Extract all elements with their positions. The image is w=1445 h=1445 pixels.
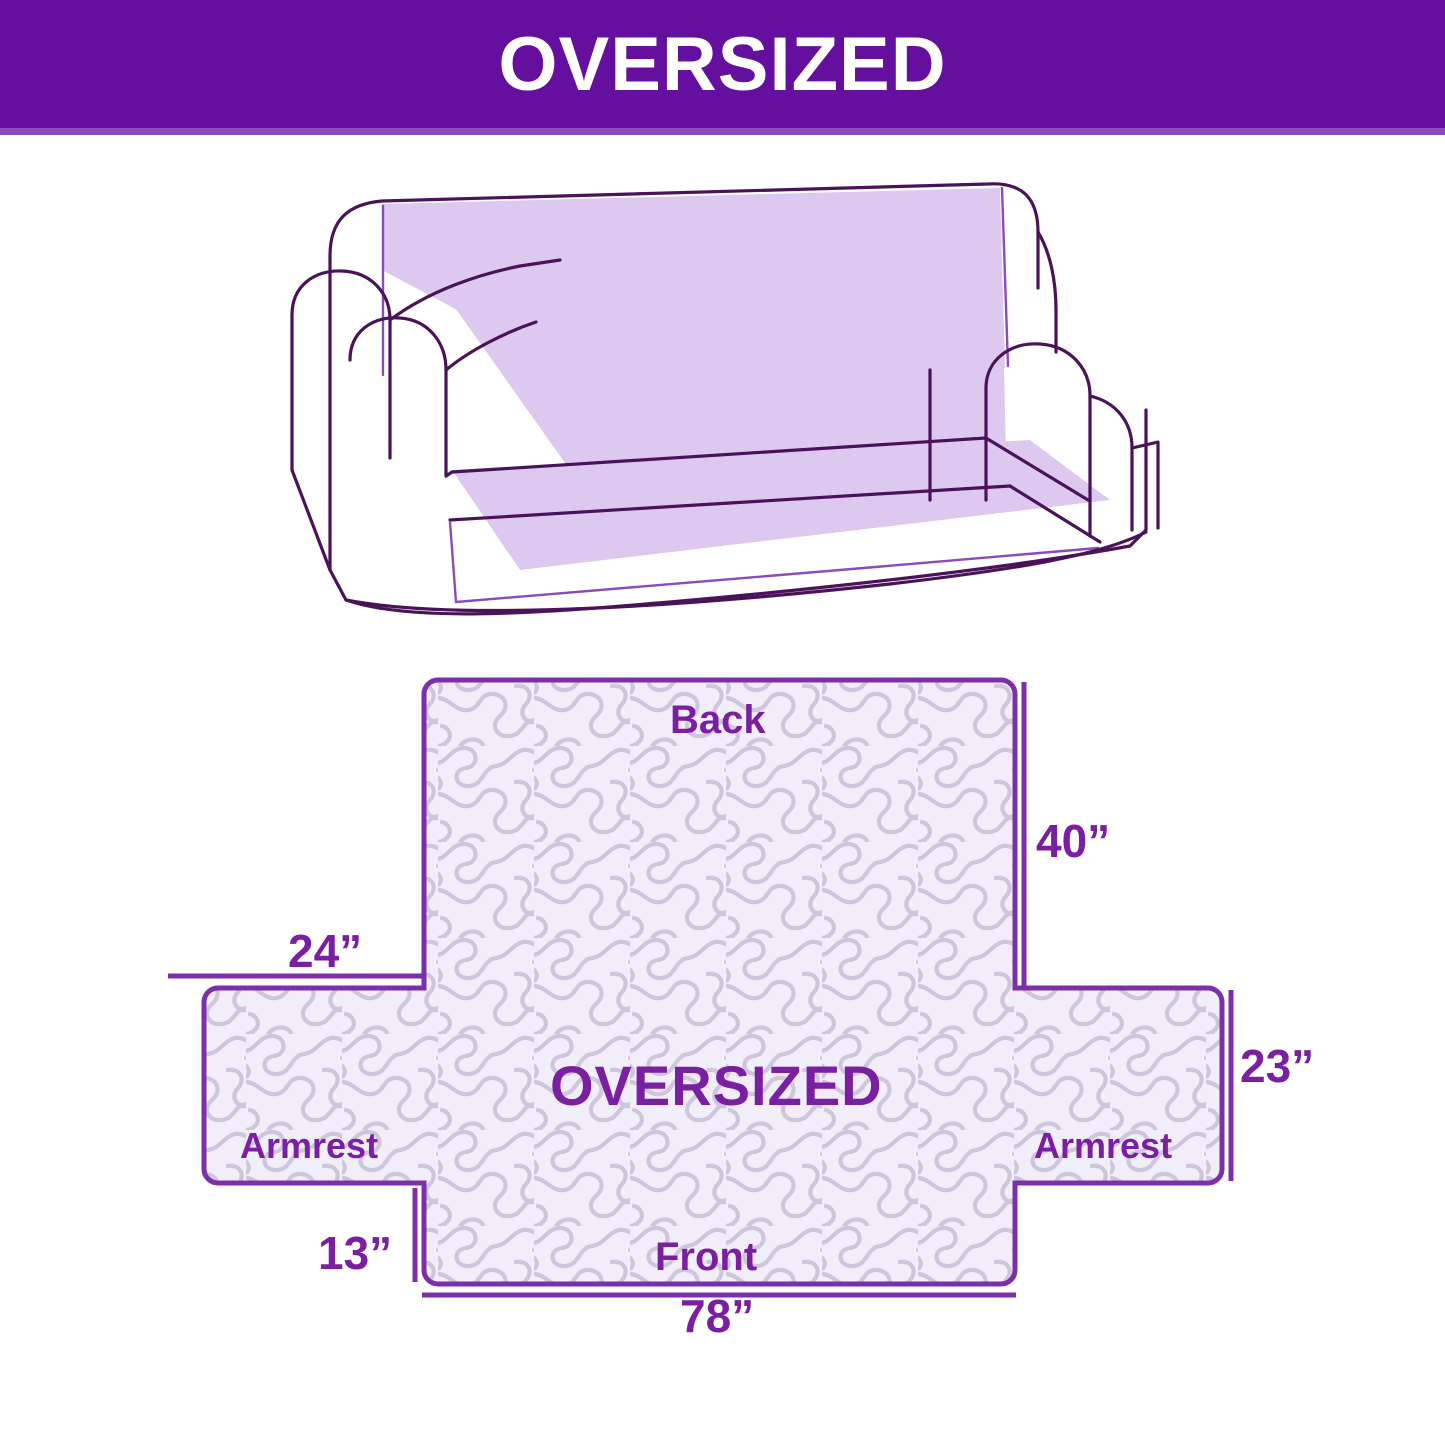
measurement-label-armrest-width: 24” xyxy=(288,928,362,974)
measurement-label-front-drop: 13” xyxy=(318,1230,392,1276)
sofa-line-art-svg: .lav { fill: #ddc9ef; } .wht { fill: #ff… xyxy=(270,170,1190,630)
header-divider xyxy=(0,128,1445,135)
armrest-right-label: Armrest xyxy=(1034,1128,1172,1164)
measurement-label-overall-width: 78” xyxy=(680,1293,754,1339)
back-panel-label: Back xyxy=(670,700,766,740)
measurement-label-back-height: 40” xyxy=(1036,818,1110,864)
header-banner: OVERSIZED xyxy=(0,0,1445,128)
armrest-left-label: Armrest xyxy=(240,1128,378,1164)
page-title: OVERSIZED xyxy=(498,27,946,103)
center-size-label: OVERSIZED xyxy=(550,1058,883,1114)
sofa-illustration: .lav { fill: #ddc9ef; } .wht { fill: #ff… xyxy=(270,170,1190,630)
dimension-diagram: Back Front Armrest Armrest OVERSIZED 40”… xyxy=(150,650,1350,1370)
measurement-label-seat-depth: 23” xyxy=(1240,1043,1314,1089)
front-panel-label: Front xyxy=(655,1237,757,1277)
